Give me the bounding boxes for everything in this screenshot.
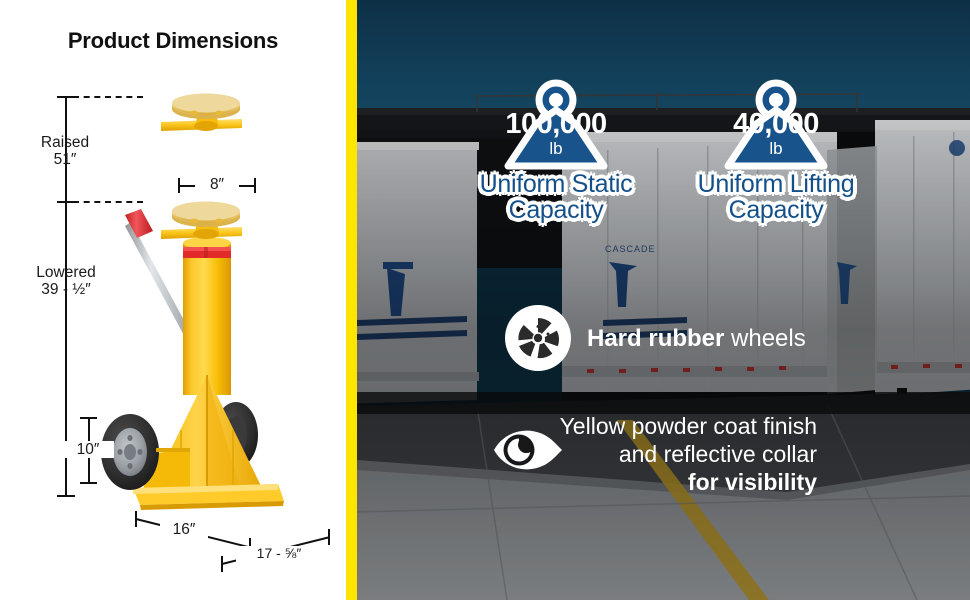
top-width-tick-left bbox=[178, 178, 180, 193]
raised-guide-line bbox=[73, 96, 143, 98]
badge-caption-line1: Uniform Lifting bbox=[665, 172, 887, 198]
raised-label-line1: Raised bbox=[0, 134, 130, 151]
feature-wheels-rest: wheels bbox=[724, 325, 805, 352]
feature-visibility-line3: for visibility bbox=[688, 469, 817, 495]
base-width-value: 17 - ⅝″ bbox=[257, 545, 302, 561]
badge-unit: lb bbox=[688, 139, 864, 159]
badge-number: 100,000 bbox=[468, 108, 644, 141]
base-depth-label: 16″ bbox=[160, 521, 208, 538]
yellow-divider bbox=[346, 0, 357, 600]
badge-caption: Uniform Static Capacity bbox=[445, 172, 667, 223]
base-width-label: 17 - ⅝″ bbox=[236, 546, 322, 562]
raised-label-line2: 51″ bbox=[0, 151, 130, 168]
product-illustration bbox=[0, 0, 346, 600]
product-infographic: Product Dimensions bbox=[0, 0, 970, 600]
wheel-height-tick-top bbox=[80, 417, 97, 419]
wheel-height-tick-bottom bbox=[80, 482, 97, 484]
badge-caption-line1: Uniform Static bbox=[445, 172, 667, 198]
badge-lifting-capacity: 40,000 lb Uniform Lifting Capacity bbox=[665, 78, 887, 223]
raised-dimension-label: Raised 51″ bbox=[0, 134, 130, 169]
base-depth-value: 16″ bbox=[173, 521, 196, 538]
top-width-value: 8″ bbox=[210, 176, 224, 193]
feature-visibility-line2: and reflective collar bbox=[557, 440, 817, 468]
height-tick-bottom bbox=[57, 495, 75, 497]
badge-caption-line2: Capacity bbox=[665, 198, 887, 224]
wheel-height-label: 10″ bbox=[62, 441, 114, 458]
raised-position-saddle bbox=[161, 94, 242, 132]
jack-column bbox=[183, 237, 231, 395]
lowered-label-line1: Lowered bbox=[0, 264, 132, 281]
badge-unit: lb bbox=[468, 139, 644, 159]
jack-saddle bbox=[161, 202, 242, 240]
left-dimensions-panel: Product Dimensions bbox=[0, 0, 346, 600]
lowered-label-line2: 39 - ½″ bbox=[0, 281, 132, 298]
badge-number: 40,000 bbox=[688, 108, 864, 141]
top-width-tick-right bbox=[254, 178, 256, 193]
top-width-label: 8″ bbox=[195, 176, 239, 193]
badge-static-capacity: 100,000 lb Uniform Static Capacity bbox=[445, 78, 667, 223]
base-depth-tick-left bbox=[135, 511, 137, 527]
base-width-tick-right bbox=[328, 529, 330, 545]
feature-wheels-text: Hard rubber wheels bbox=[587, 325, 806, 353]
feature-visibility-text: Yellow powder coat finish and reflective… bbox=[557, 412, 817, 496]
wheel-icon bbox=[505, 305, 571, 371]
lowered-dimension-label: Lowered 39 - ½″ bbox=[0, 264, 132, 299]
right-photo-panel: CASCADE bbox=[357, 0, 970, 600]
weight-icon: 40,000 lb bbox=[688, 78, 864, 174]
base-width-tick-left bbox=[221, 556, 223, 572]
feature-visibility-line1: Yellow powder coat finish bbox=[557, 412, 817, 440]
badge-caption-line2: Capacity bbox=[445, 198, 667, 224]
feature-wheels-bold: Hard rubber bbox=[587, 325, 724, 352]
weight-icon: 100,000 lb bbox=[468, 78, 644, 174]
badge-caption: Uniform Lifting Capacity bbox=[665, 172, 887, 223]
eye-icon bbox=[492, 421, 564, 479]
wheel-height-value: 10″ bbox=[77, 441, 100, 458]
lowered-guide-line bbox=[73, 201, 143, 203]
